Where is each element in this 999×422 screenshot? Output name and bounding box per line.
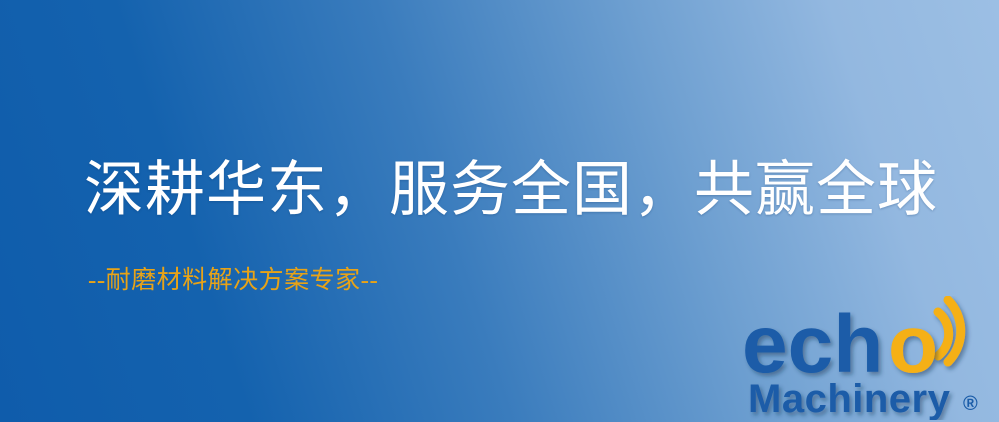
logo-text-machinery: Machinery	[748, 377, 951, 420]
banner-headline: 深耕华东，服务全国，共赢全球	[84, 155, 938, 225]
logo-svg: ech o Machinery ®	[742, 296, 994, 420]
registered-trademark-icon: ®	[963, 393, 978, 415]
echo-machinery-logo: ech o Machinery ®	[742, 296, 994, 420]
banner-subtitle: --耐磨材料解决方案专家--	[88, 266, 378, 296]
echo-wave-icon	[938, 300, 961, 362]
hero-banner: 深耕华东，服务全国，共赢全球 --耐磨材料解决方案专家-- ech o	[0, 0, 999, 422]
